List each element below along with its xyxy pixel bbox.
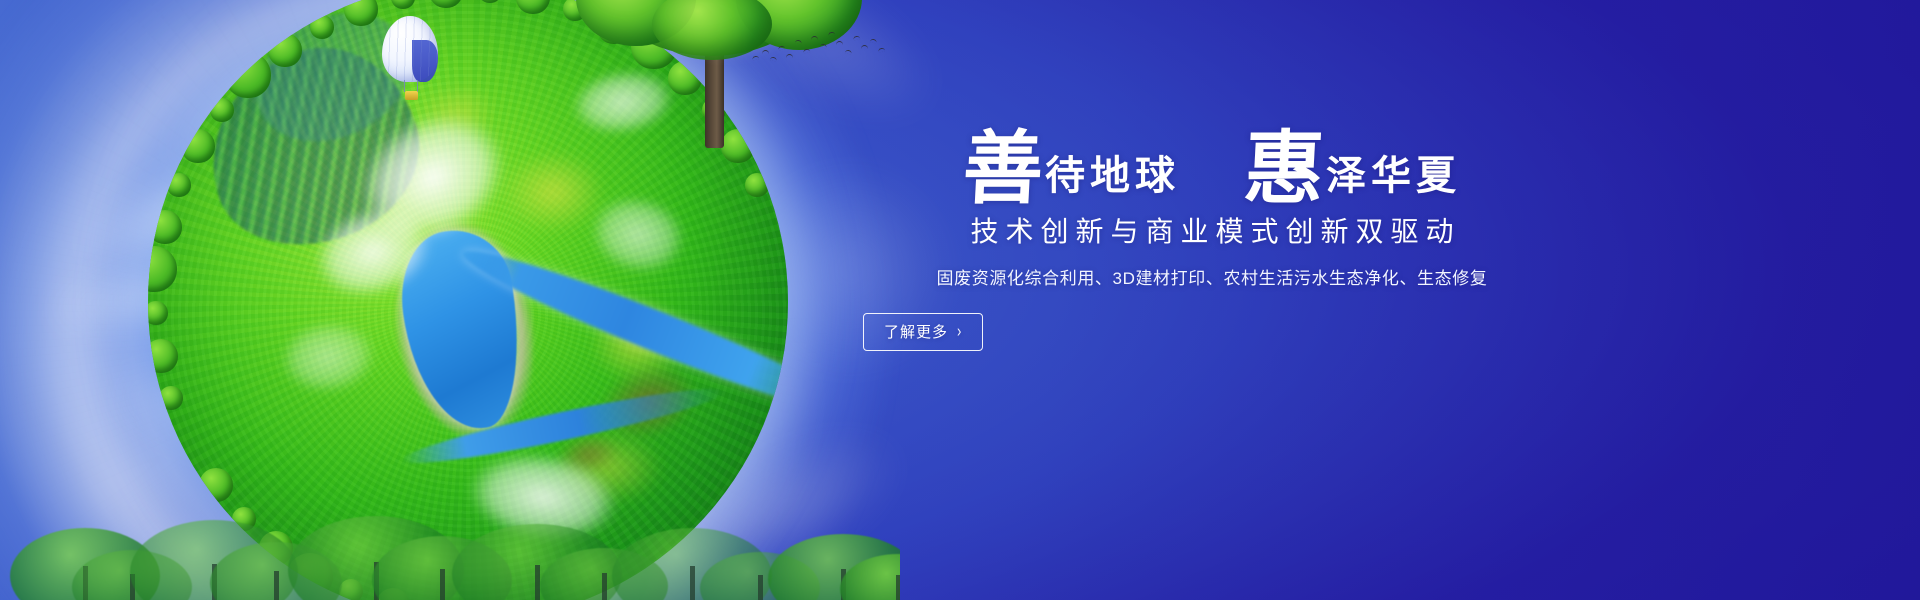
foreground-tree-trunk	[896, 575, 900, 600]
bird-icon	[762, 50, 769, 54]
foreground-tree-trunk	[274, 571, 279, 600]
subtitle: 技术创新与商业模式创新双驱动	[862, 214, 1562, 250]
bird-icon	[836, 41, 843, 45]
cta-row: 了解更多 ›	[862, 313, 1562, 351]
rim-tree	[721, 129, 755, 163]
bird-icon	[786, 54, 793, 58]
rim-tree	[563, 0, 587, 21]
chevron-right-icon: ›	[957, 322, 962, 340]
rim-tree	[148, 301, 168, 325]
bird-icon	[853, 35, 861, 40]
foreground-tree-trunk	[440, 569, 445, 600]
bird-icon	[795, 39, 803, 44]
bird-icon	[828, 31, 836, 36]
headline-phrase-one: 善 待地球	[963, 132, 1180, 206]
balloon-seams	[382, 16, 438, 82]
bird-icon	[803, 48, 811, 53]
headline-lead-char: 善	[961, 132, 1045, 206]
bird-icon	[845, 49, 853, 54]
headline: 善 待地球 惠 泽华夏	[862, 132, 1562, 206]
bird-icon	[861, 45, 868, 49]
headline-lead-char: 惠	[1242, 132, 1326, 206]
rim-tree	[668, 61, 702, 95]
rim-tree	[631, 23, 677, 69]
bird-icon	[870, 38, 878, 43]
rim-tree	[167, 173, 191, 197]
rim-tree	[478, 0, 502, 3]
rim-tree	[745, 173, 769, 197]
rim-tree	[181, 129, 215, 163]
bird-icon	[752, 55, 760, 60]
rim-tree	[148, 339, 178, 373]
bird-icon	[878, 47, 886, 52]
rim-tree	[429, 0, 463, 8]
hero-banner: 善 待地球 惠 泽华夏 技术创新与商业模式创新双驱动 固废资源化综合利用、3D建…	[0, 0, 1920, 600]
headline-rest-chars: 泽华夏	[1326, 156, 1461, 206]
bird-flock	[748, 30, 888, 72]
rim-tree	[344, 0, 378, 26]
rim-tree	[516, 0, 550, 14]
bird-icon	[811, 36, 818, 40]
foreground-tree-trunk	[690, 566, 695, 600]
rim-tree	[268, 33, 302, 67]
learn-more-button[interactable]: 了解更多 ›	[863, 313, 983, 351]
learn-more-label: 了解更多	[884, 321, 948, 342]
headline-rest-chars: 待地球	[1045, 156, 1180, 206]
rim-tree	[391, 0, 415, 9]
balloon-basket	[405, 91, 418, 100]
rim-tree	[310, 15, 334, 39]
rim-tree	[210, 98, 234, 122]
bird-icon	[770, 56, 778, 61]
foreground-trees	[0, 390, 900, 600]
rim-tree	[148, 210, 182, 244]
headline-phrase-two: 惠 泽华夏	[1244, 132, 1461, 206]
rim-tree	[702, 98, 726, 122]
hero-content: 善 待地球 惠 泽华夏 技术创新与商业模式创新双驱动 固废资源化综合利用、3D建…	[862, 132, 1562, 351]
description: 固废资源化综合利用、3D建材打印、农村生活污水生态净化、生态修复	[862, 267, 1562, 291]
rim-tree	[148, 246, 177, 292]
foreground-tree-trunk	[602, 573, 607, 600]
rim-tree	[597, 10, 631, 44]
hot-air-balloon	[382, 16, 444, 108]
bird-icon	[778, 45, 786, 50]
bird-icon	[820, 43, 828, 48]
rim-tree	[225, 52, 271, 98]
foreground-tree-trunk	[758, 575, 763, 600]
